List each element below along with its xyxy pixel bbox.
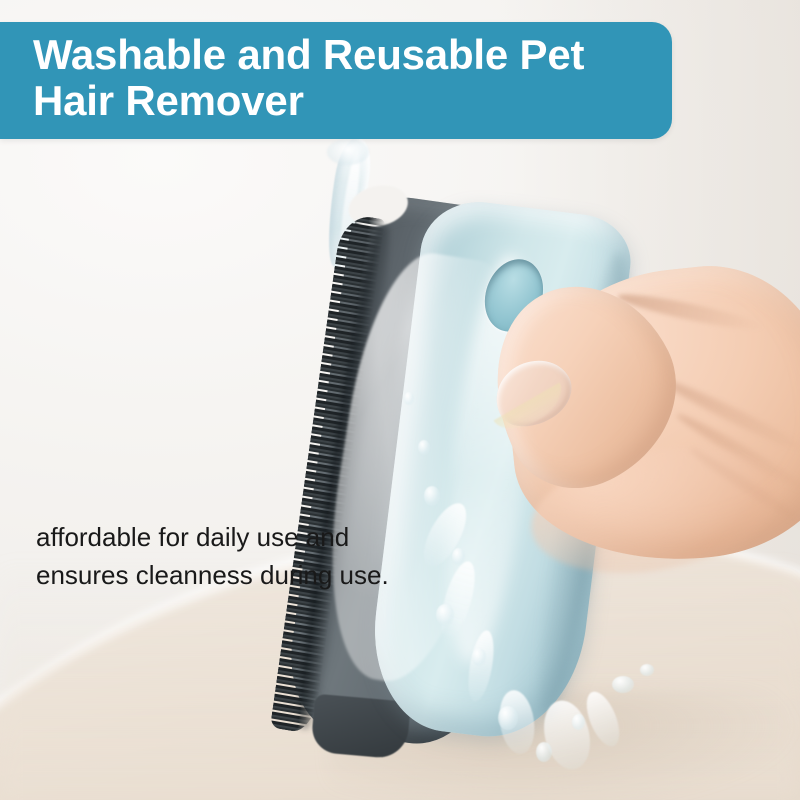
hand (470, 250, 800, 580)
water-droplet (572, 714, 585, 730)
water-droplet (418, 440, 430, 455)
water-droplet (436, 604, 454, 626)
headline-title: Washable and Reusable Pet Hair Remover (33, 32, 663, 124)
water-droplet (472, 648, 486, 666)
headline-banner: Washable and Reusable Pet Hair Remover (0, 22, 672, 139)
caption-text: affordable for daily use and ensures cle… (36, 518, 456, 594)
brush-tip (310, 694, 411, 760)
water-droplet (498, 706, 518, 730)
product-image: Washable and Reusable Pet Hair Remover a… (0, 0, 800, 800)
water-droplet (424, 486, 440, 506)
water-stream-splash-top (327, 139, 369, 165)
water-droplet (404, 392, 414, 405)
water-droplet (612, 676, 634, 693)
water-droplet (640, 664, 654, 676)
water-droplet (536, 742, 552, 762)
